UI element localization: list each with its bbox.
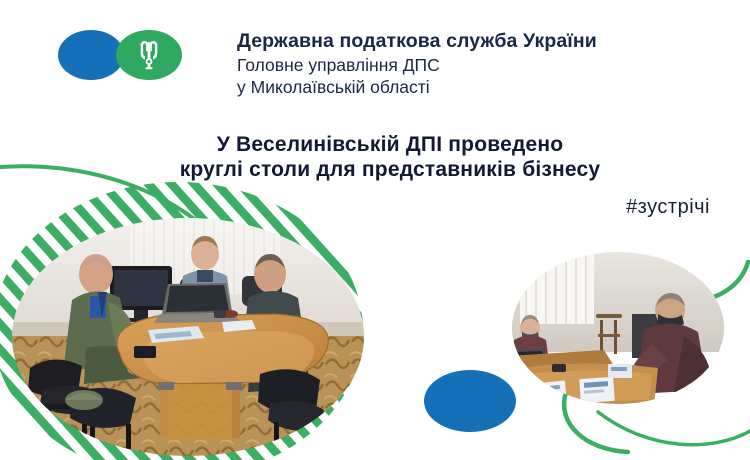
page-title: У Веселинівській ДПІ проведено круглі ст… bbox=[60, 132, 720, 182]
ukrainian-trident-icon bbox=[136, 40, 162, 72]
logo-blue-circle bbox=[58, 30, 124, 80]
agency-name-block: Державна податкова служба України Головн… bbox=[237, 28, 717, 98]
green-arc-bottom-right bbox=[598, 412, 750, 445]
hashtag-label: #зустрічі bbox=[626, 196, 710, 219]
agency-name-line2: Головне управління ДПС bbox=[237, 54, 717, 76]
agency-name-line1: Державна податкова служба України bbox=[237, 28, 717, 54]
poster-canvas: Державна податкова служба України Головн… bbox=[0, 0, 750, 460]
agency-name-line3: у Миколаївській області bbox=[237, 76, 717, 98]
page-title-line1: У Веселинівській ДПІ проведено bbox=[60, 132, 720, 157]
round-table-meeting-photo bbox=[12, 218, 364, 456]
office-consultation-photo bbox=[512, 252, 724, 404]
blue-accent-dot bbox=[424, 370, 516, 432]
page-title-line2: круглі столи для представників бізнесу bbox=[60, 157, 720, 182]
agency-logo bbox=[58, 30, 188, 82]
